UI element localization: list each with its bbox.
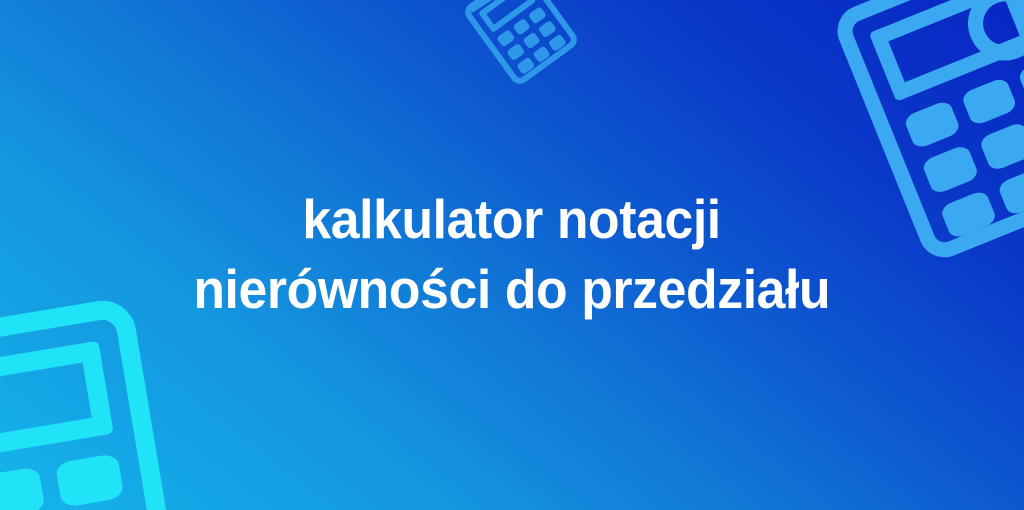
page-title: kalkulator notacji nierówności do przedz… <box>0 0 1024 510</box>
headline-line-2: nierówności do przedziału <box>194 255 831 325</box>
headline-line-1: kalkulator notacji <box>303 185 721 255</box>
banner-hero: kalkulator notacji nierówności do przedz… <box>0 0 1024 510</box>
